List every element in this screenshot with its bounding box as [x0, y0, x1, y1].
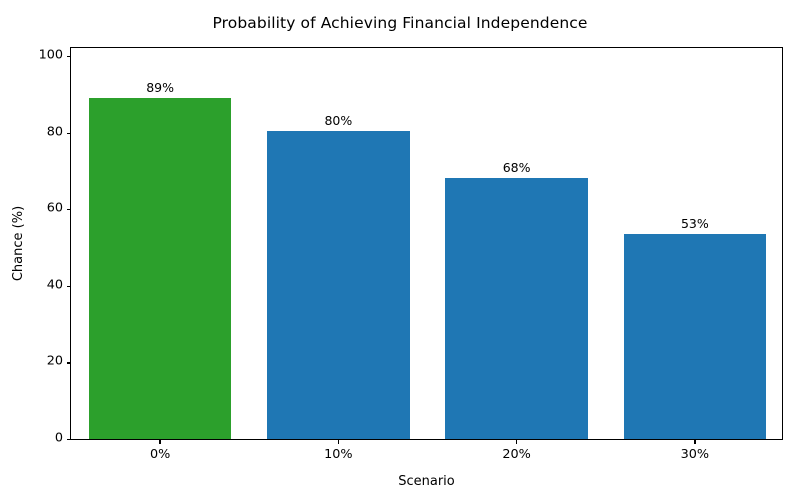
x-tick-label: 30% [681, 447, 709, 462]
y-tick-label: 80 [47, 126, 63, 139]
chart-figure: Probability of Achieving Financial Indep… [0, 0, 800, 500]
y-tick-label: 40 [47, 279, 63, 292]
x-axis-label: Scenario [70, 474, 783, 489]
chart-title: Probability of Achieving Financial Indep… [0, 14, 800, 32]
bar-10pct[interactable]: 80% [267, 131, 410, 439]
y-tick-label: 100 [39, 50, 63, 63]
bar-value-label: 68% [503, 160, 531, 175]
bar-value-label: 80% [324, 113, 352, 128]
x-tick-mark [516, 439, 517, 444]
y-axis-label: Chance (%) [10, 47, 28, 440]
bar-20pct[interactable]: 68% [445, 178, 588, 439]
bar-0pct[interactable]: 89% [89, 98, 232, 439]
x-tick-mark [338, 439, 339, 444]
bar-30pct[interactable]: 53% [624, 234, 767, 439]
x-tick-mark [694, 439, 695, 444]
y-tick-label: 20 [47, 356, 63, 369]
bar-value-label: 53% [681, 216, 709, 231]
bars-layer: 89%80%68%53% [71, 48, 782, 439]
bar-value-label: 89% [146, 80, 174, 95]
y-tick-label: 0 [55, 433, 63, 446]
x-tick-label: 10% [324, 447, 352, 462]
plot-area: 020406080100 89%80%68%53% 0%10%20%30% [70, 47, 783, 440]
y-tick-label: 60 [47, 203, 63, 216]
x-tick-label: 20% [502, 447, 530, 462]
y-axis-label-text: Chance (%) [12, 206, 27, 281]
x-tick-mark [159, 439, 160, 444]
x-tick-label: 0% [150, 447, 170, 462]
y-tick-mark [67, 439, 72, 440]
